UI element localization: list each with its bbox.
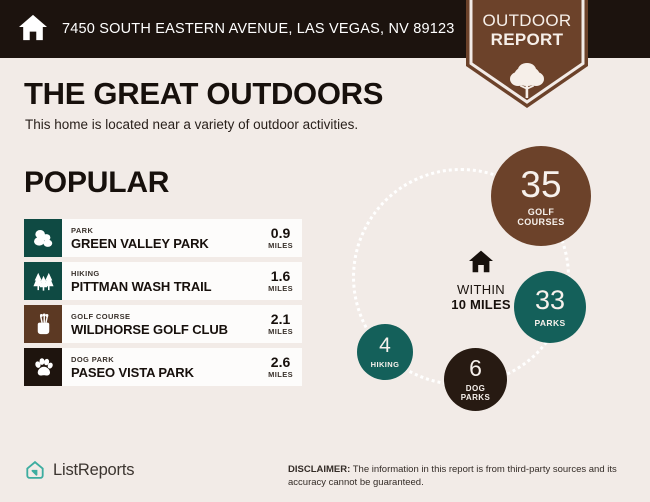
poi-distance-unit: MILES [268,284,293,294]
list-item[interactable]: HIKING PITTMAN WASH TRAIL 1.6 MILES [24,262,302,300]
poi-distance-unit: MILES [268,241,293,251]
bubble-label: PARKS [534,318,565,328]
home-icon [18,13,48,46]
listreports-logo[interactable]: ListReports [24,459,134,481]
poi-distance-unit: MILES [268,370,293,380]
disclaimer: DISCLAIMER: The information in this repo… [288,464,636,489]
poi-distance-value: 0.9 [271,226,290,241]
poi-category: GOLF COURSE [71,312,268,322]
poi-distance-value: 1.6 [271,269,290,284]
bubble-parks[interactable]: 33 PARKS [514,271,586,343]
popular-list: PARK GREEN VALLEY PARK 0.9 MILES HIKING [24,219,302,391]
within-10-miles-chart: WITHIN 10 MILES 35 GOLF COURSES 33 PARKS… [338,146,638,436]
poi-icon-box [24,305,62,343]
bubble-value: 33 [535,287,565,314]
home-icon [468,260,494,277]
poi-distance: 1.6 MILES [268,262,302,300]
poi-distance-value: 2.1 [271,312,290,327]
bubble-value: 6 [469,357,482,380]
paw-print-icon [32,356,55,379]
bubble-golf-courses[interactable]: 35 GOLF COURSES [491,146,591,246]
poi-category: PARK [71,226,268,236]
bubble-dog-parks[interactable]: 6 DOG PARKS [444,348,507,411]
listreports-logo-text: ListReports [53,461,134,480]
poi-distance: 0.9 MILES [268,219,302,257]
list-item[interactable]: DOG PARK PASEO VISTA PARK 2.6 MILES [24,348,302,386]
bubble-label-line2: COURSES [517,217,564,227]
poi-category: DOG PARK [71,355,268,365]
listreports-house-icon [24,459,46,481]
poi-name: PASEO VISTA PARK [71,365,268,380]
poi-distance: 2.1 MILES [268,305,302,343]
poi-text: DOG PARK PASEO VISTA PARK [62,348,268,386]
bubble-value: 35 [520,166,561,203]
poi-text: GOLF COURSE WILDHORSE GOLF CLUB [62,305,268,343]
bubble-label-line2: PARKS [461,393,490,402]
bubble-label: DOG PARKS [461,384,490,402]
poi-icon-box [24,262,62,300]
bubble-label-line1: DOG [461,384,490,393]
list-item[interactable]: GOLF COURSE WILDHORSE GOLF CLUB 2.1 MILE… [24,305,302,343]
poi-name: GREEN VALLEY PARK [71,236,268,251]
poi-category: HIKING [71,269,268,279]
bubble-value: 4 [379,335,391,356]
badge-line1: OUTDOOR [466,11,588,30]
poi-distance-unit: MILES [268,327,293,337]
poi-icon-box [24,219,62,257]
poi-text: PARK GREEN VALLEY PARK [62,219,268,257]
page-subtitle: This home is located near a variety of o… [25,117,358,132]
bubble-hiking[interactable]: 4 HIKING [357,324,413,380]
poi-distance: 2.6 MILES [268,348,302,386]
poi-icon-box [24,348,62,386]
poi-text: HIKING PITTMAN WASH TRAIL [62,262,268,300]
bubble-label: GOLF COURSES [517,207,564,227]
poi-distance-value: 2.6 [271,355,290,370]
list-item[interactable]: PARK GREEN VALLEY PARK 0.9 MILES [24,219,302,257]
park-tree-icon [32,227,55,250]
bubble-label: HIKING [371,360,400,370]
header-address: 7450 SOUTH EASTERN AVENUE, LAS VEGAS, NV… [62,21,455,37]
bubble-label-line1: GOLF [517,207,564,217]
page-title: THE GREAT OUTDOORS [24,76,383,112]
poi-name: PITTMAN WASH TRAIL [71,279,268,294]
poi-name: WILDHORSE GOLF CLUB [71,322,268,337]
disclaimer-label: DISCLAIMER: [288,464,350,475]
popular-heading: POPULAR [24,166,169,200]
badge-text: OUTDOOR REPORT [466,11,588,49]
pine-trees-icon [32,270,55,293]
outdoor-report-badge: OUTDOOR REPORT [466,0,588,108]
golf-bag-icon [32,313,55,336]
badge-line2: REPORT [466,30,588,49]
